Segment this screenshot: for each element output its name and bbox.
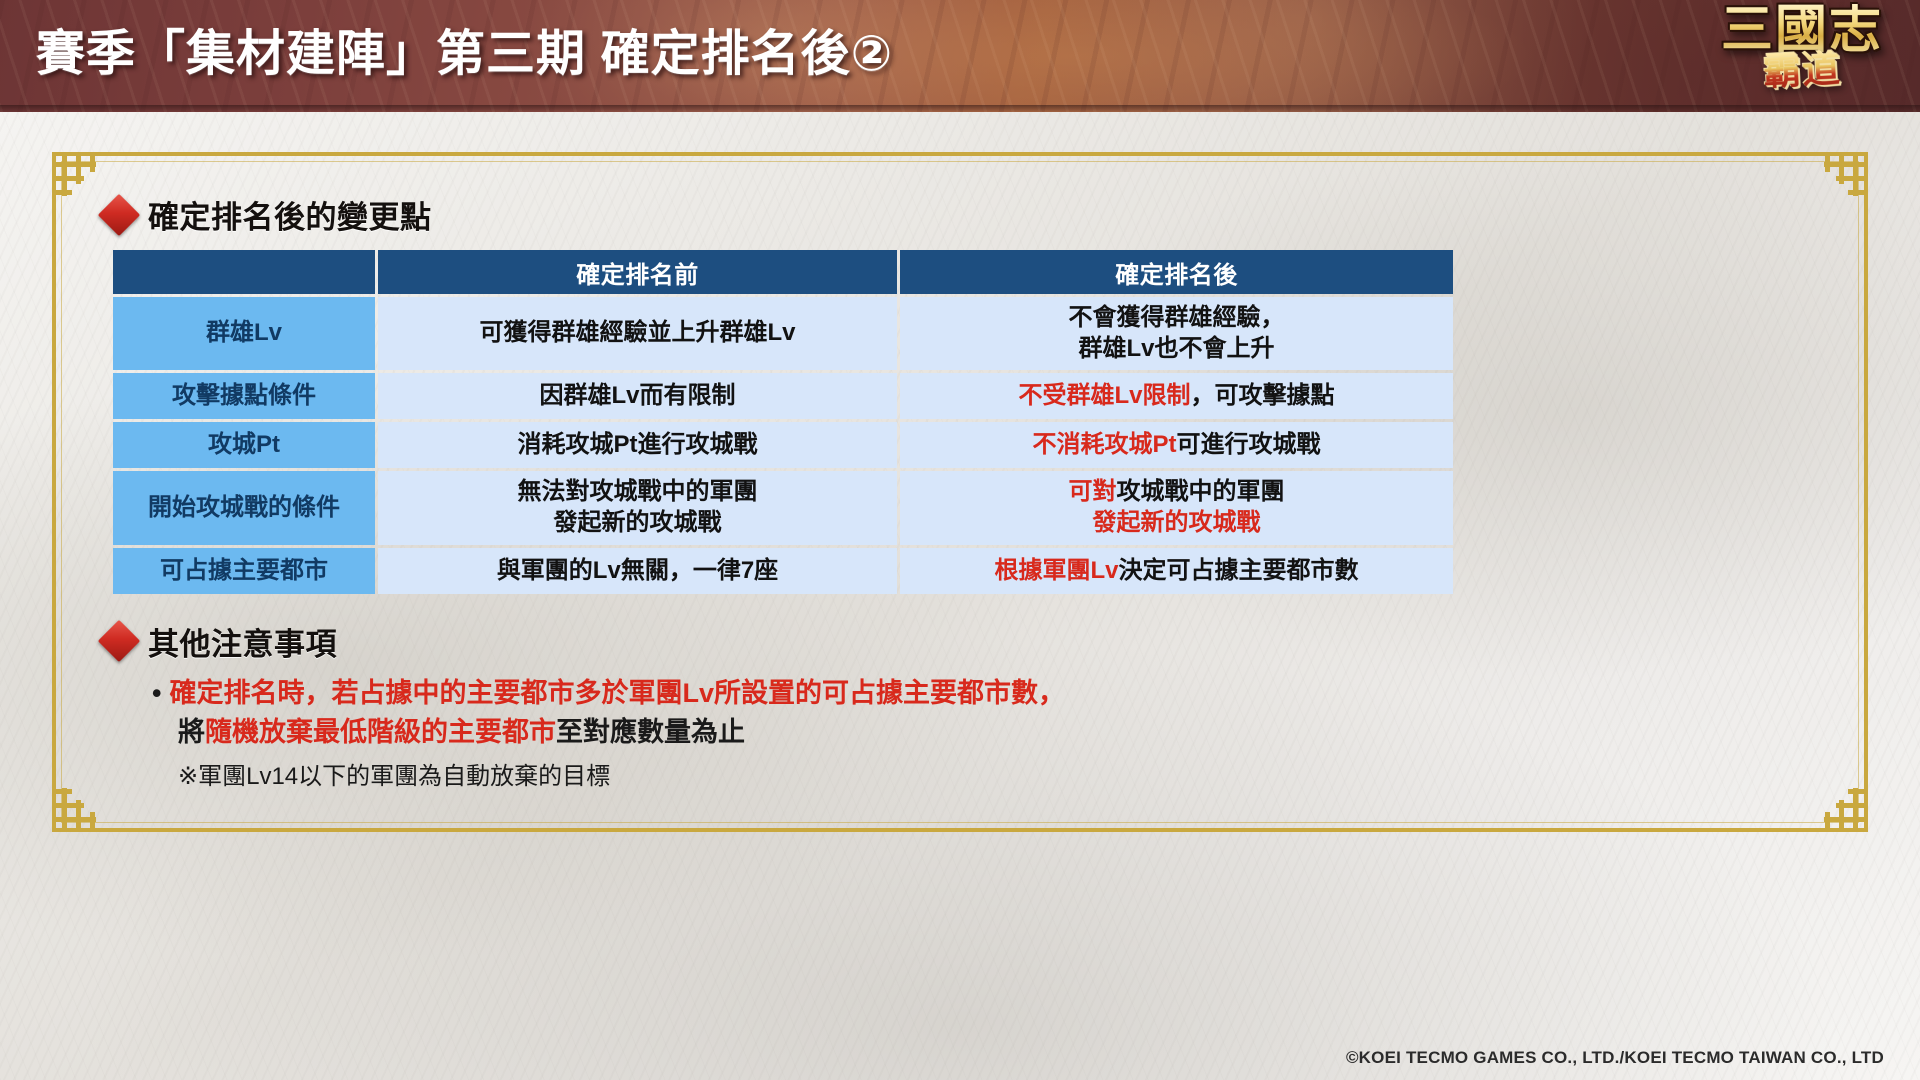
table-header-row: 確定排名前 確定排名後 [113,250,1453,294]
title-banner: 賽季「集材建陣」第三期 確定排名後② [0,0,1920,112]
cell-after-plain: 決定可占據主要都市數 [1119,557,1359,584]
cell-after-line1: 不會獲得群雄經驗， [1069,304,1285,331]
cell-after: 不受群雄Lv限制，可攻擊據點 [900,373,1453,419]
table-header-after: 確定排名後 [900,250,1453,294]
cell-after: 不消耗攻城Pt可進行攻城戰 [900,422,1453,468]
row-label: 群雄Lv [113,297,375,370]
cell-after-plain: 可進行攻城戰 [1177,431,1321,458]
notes-section: 其他注意事項 確定排名時，若占據中的主要都市多於軍團Lv所設置的可占據主要都市數… [104,619,1816,795]
table-row: 開始攻城戰的條件 無法對攻城戰中的軍團 發起新的攻城戰 可對攻城戰中的軍團 發起… [113,471,1453,544]
cell-after-highlight-line2: 發起新的攻城戰 [1093,509,1261,536]
cell-before: 可獲得群雄經驗並上升群雄Lv [378,297,897,370]
cell-after-plain: ，可攻擊據點 [1191,382,1335,409]
cell-after-highlight: 根據軍團Lv [994,557,1118,584]
table-row: 群雄Lv 可獲得群雄經驗並上升群雄Lv 不會獲得群雄經驗， 群雄Lv也不會上升 [113,297,1453,370]
slide-content: 確定排名後的變更點 確定排名前 確定排名後 群雄Lv 可獲得群雄經驗並上升群雄L… [104,192,1816,795]
table-header-before: 確定排名前 [378,250,897,294]
note-line-2-suffix: 至對應數量為止 [556,717,745,747]
row-label: 開始攻城戰的條件 [113,471,375,544]
cell-before-line1: 無法對攻城戰中的軍團 [518,478,758,505]
note-footnote: ※軍團Lv14以下的軍團為自動放棄的目標 [178,760,1816,795]
table-row: 可占據主要都市 與軍團的Lv無關，一律7座 根據軍團Lv決定可占據主要都市數 [113,548,1453,594]
cell-before: 無法對攻城戰中的軍團 發起新的攻城戰 [378,471,897,544]
cell-after: 可對攻城戰中的軍團 發起新的攻城戰 [900,471,1453,544]
table-row: 攻城Pt 消耗攻城Pt進行攻城戰 不消耗攻城Pt可進行攻城戰 [113,422,1453,468]
section-header-notes: 其他注意事項 [104,619,1816,664]
copyright-text: ©KOEI TECMO GAMES CO., LTD./KOEI TECMO T… [1346,1048,1884,1068]
red-diamond-icon [98,193,140,235]
note-item: 確定排名時，若占據中的主要都市多於軍團Lv所設置的可占據主要都市數， [152,674,1816,713]
row-label: 攻擊據點條件 [113,373,375,419]
table-header-blank [113,250,375,294]
cell-after: 根據軍團Lv決定可占據主要都市數 [900,548,1453,594]
section-title-changes: 確定排名後的變更點 [148,192,432,237]
row-label: 可占據主要都市 [113,548,375,594]
page-title: 賽季「集材建陣」第三期 確定排名後② [36,18,893,90]
table-row: 攻擊據點條件 因群雄Lv而有限制 不受群雄Lv限制，可攻擊據點 [113,373,1453,419]
cell-after-plain-line1: 攻城戰中的軍團 [1117,478,1285,505]
cell-after-highlight-line1: 可對 [1069,478,1117,505]
cell-before: 因群雄Lv而有限制 [378,373,897,419]
cell-before: 消耗攻城Pt進行攻城戰 [378,422,897,468]
comparison-table: 確定排名前 確定排名後 群雄Lv 可獲得群雄經驗並上升群雄Lv 不會獲得群雄經驗… [110,247,1456,597]
cell-after: 不會獲得群雄經驗， 群雄Lv也不會上升 [900,297,1453,370]
row-label: 攻城Pt [113,422,375,468]
section-header-changes: 確定排名後的變更點 [104,192,1816,237]
brand-logo: 三國志 霸道 [1702,4,1902,132]
note-line-1: 確定排名時，若占據中的主要都市多於軍團Lv所設置的可占據主要都市數， [169,678,1065,708]
section-title-notes: 其他注意事項 [148,619,337,664]
cell-after-highlight: 不消耗攻城Pt [1033,431,1177,458]
note-line-2-prefix: 將 [178,717,205,747]
notes-list: 確定排名時，若占據中的主要都市多於軍團Lv所設置的可占據主要都市數， 將隨機放棄… [152,674,1816,795]
banner-edge [0,105,1920,112]
cell-after-line2: 群雄Lv也不會上升 [1078,335,1274,362]
note-item-continued: 將隨機放棄最低階級的主要都市至對應數量為止 [178,713,1816,752]
cell-before: 與軍團的Lv無關，一律7座 [378,548,897,594]
cell-before-line2: 發起新的攻城戰 [554,509,722,536]
red-diamond-icon [98,620,140,662]
note-line-2-highlight: 隨機放棄最低階級的主要都市 [205,717,556,747]
cell-after-highlight: 不受群雄Lv限制 [1018,382,1190,409]
